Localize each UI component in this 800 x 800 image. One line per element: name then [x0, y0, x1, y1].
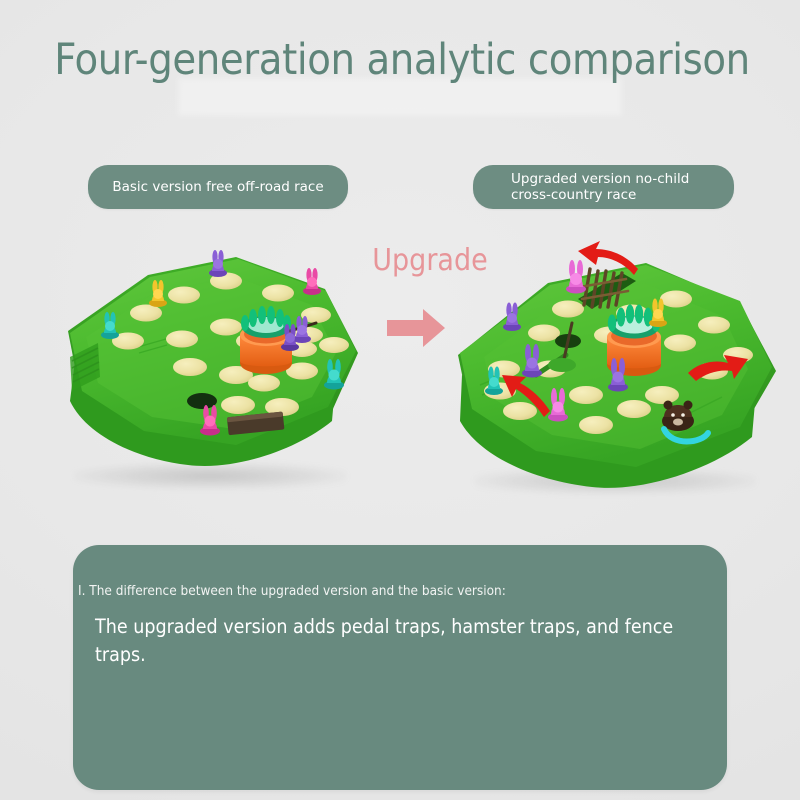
basic-board-illustration: [40, 235, 380, 495]
upgraded-version-label: Upgraded version no-child cross-country …: [511, 171, 689, 203]
info-panel-body: The upgraded version adds pedal traps, h…: [95, 613, 715, 669]
basic-version-banner: Basic version free off-road race: [88, 165, 348, 209]
page-title: Four-generation analytic comparison: [16, 30, 788, 90]
basic-version-product-image: [40, 235, 380, 495]
upgraded-version-product-image: [440, 225, 790, 500]
product-comparison-page: Four-generation analytic comparison Basi…: [0, 0, 800, 800]
arrow-right-icon: [385, 306, 447, 350]
upgraded-board-illustration: [440, 225, 790, 500]
basic-version-label: Basic version free off-road race: [112, 179, 323, 196]
upgraded-version-banner: Upgraded version no-child cross-country …: [473, 165, 734, 209]
info-panel-heading: I. The difference between the upgraded v…: [78, 582, 506, 600]
pawn-pink-right: [303, 268, 321, 295]
